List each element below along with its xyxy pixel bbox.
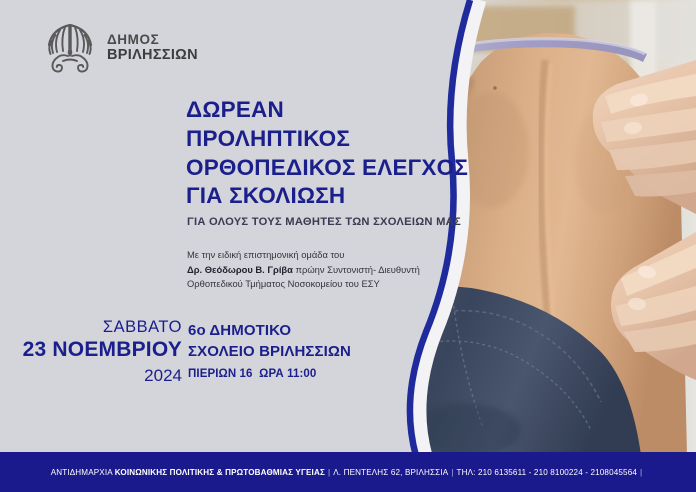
footer-separator-1: | [325, 468, 333, 477]
venue-address: ΠΙΕΡΙΩΝ 16 [188, 368, 253, 380]
footer-address: Λ. ΠΕΝΤΕΛΗΣ 62, ΒΡΙΛΗΣΣΙΑ [333, 468, 448, 477]
logo-line-1: ΔΗΜΟΣ [107, 32, 198, 47]
footer-separator-2: | [448, 468, 456, 477]
footer-department: ΚΟΙΝΩΝΙΚΗΣ ΠΟΛΙΤΙΚΗΣ & ΠΡΩΤΟΒΑΘΜΙΑΣ ΥΓΕΙ… [115, 468, 325, 477]
footer-phones: ΤΗΛ: 210 6135611 - 210 8100224 - 2108045… [457, 468, 637, 477]
footer-text: ΑΝΤΙΔΗΜΑΡΧΙΑ ΚΟΙΝΩΝΙΚΗΣ ΠΟΛΙΤΙΚΗΣ & ΠΡΩΤ… [51, 468, 646, 477]
footer-prefix: ΑΝΤΙΔΗΜΑΡΧΙΑ [51, 468, 115, 477]
headline-line-2: ΠΡΟΛΗΠΤΙΚΟΣ [186, 125, 486, 154]
municipality-logo: ΔΗΜΟΣ ΒΡΙΛΗΣΣΙΩΝ [42, 20, 198, 76]
subheadline: ΓΙΑ ΟΛΟΥΣ ΤΟΥΣ ΜΑΘΗΤΕΣ ΤΩΝ ΣΧΟΛΕΙΩΝ ΜΑΣ [187, 216, 487, 228]
headline-line-4: ΓΙΑ ΣΚΟΛΙΩΣΗ [186, 182, 486, 211]
venue-address-time: ΠΙΕΡΙΩΝ 16 ΩΡΑ 11:00 [188, 368, 418, 380]
venue-line-2: ΣΧΟΛΕΙΟ ΒΡΙΛΗΣΣΙΩΝ [188, 341, 418, 362]
headline: ΔΩΡΕΑΝ ΠΡΟΛΗΠΤΙΚΟΣ ΟΡΘΟΠΕΔΙΚΟΣ ΕΛΕΓΧΟΣ Γ… [186, 96, 486, 211]
headline-line-1: ΔΩΡΕΑΝ [186, 96, 486, 125]
poster-canvas: ΔΗΜΟΣ ΒΡΙΛΗΣΣΙΩΝ ΔΩΡΕΑΝ ΠΡΟΛΗΠΤΙΚΟΣ ΟΡΘΟ… [0, 0, 696, 492]
event-day-month: 23 ΝΟΕΜΒΡΙΟΥ [10, 337, 182, 364]
greek-palmette-anthemion-icon [42, 20, 98, 76]
doctor-name: Δρ. Θεόδωρου Β. Γρίβα [187, 264, 293, 275]
logo-line-2: ΒΡΙΛΗΣΣΙΩΝ [107, 47, 198, 63]
venue-time: ΩΡΑ 11:00 [259, 368, 316, 380]
footer-separator-3: | [637, 468, 645, 477]
event-venue-block: 6ο ΔΗΜΟΤΙΚΟ ΣΧΟΛΕΙΟ ΒΡΙΛΗΣΣΙΩΝ ΠΙΕΡΙΩΝ 1… [188, 320, 418, 380]
event-date-block: ΣΑΒΒΑΤΟ 23 ΝΟΕΜΒΡΙΟΥ 2024 [10, 318, 182, 386]
headline-line-3: ΟΡΘΟΠΕΔΙΚΟΣ ΕΛΕΓΧΟΣ [186, 154, 486, 183]
event-weekday: ΣΑΒΒΑΤΟ [10, 318, 182, 336]
logo-wordmark: ΔΗΜΟΣ ΒΡΙΛΗΣΣΙΩΝ [107, 32, 198, 63]
venue-line-1: 6ο ΔΗΜΟΤΙΚΟ [188, 320, 418, 341]
credits-line-3: Ορθοπεδικού Τμήματος Νοσοκομείου του ΕΣΥ [187, 277, 457, 292]
medical-team-credits: Με την ειδική επιστημονική ομάδα του Δρ.… [187, 248, 457, 292]
credits-line-2: Δρ. Θεόδωρου Β. Γρίβα πρώην Συντονιστή- … [187, 263, 457, 278]
doctor-role: πρώην Συντονιστή- Διευθυντή [293, 264, 420, 275]
event-year: 2024 [10, 365, 182, 386]
footer-bar: ΑΝΤΙΔΗΜΑΡΧΙΑ ΚΟΙΝΩΝΙΚΗΣ ΠΟΛΙΤΙΚΗΣ & ΠΡΩΤ… [0, 452, 696, 492]
credits-line-1: Με την ειδική επιστημονική ομάδα του [187, 248, 457, 263]
